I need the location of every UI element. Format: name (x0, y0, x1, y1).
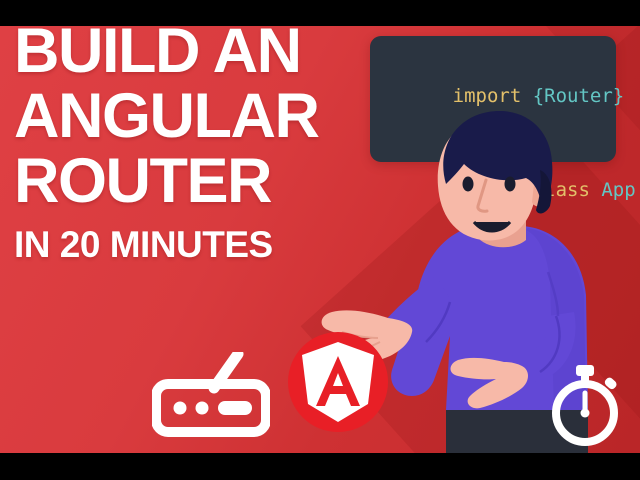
headline-block: BUILD AN ANGULAR ROUTER IN 20 MINUTES (14, 22, 364, 263)
headline-line-1: BUILD AN (14, 22, 364, 82)
thumbnail-canvas: BUILD AN ANGULAR ROUTER IN 20 MINUTES im… (0, 0, 640, 480)
letterbox-bar-top (0, 0, 640, 26)
headline-line-3: ROUTER (14, 152, 364, 212)
stopwatch-icon (543, 363, 627, 447)
letterbox-bar-bottom (0, 453, 640, 480)
router-icon (152, 352, 270, 444)
headline-subtitle: IN 20 MINUTES (14, 226, 364, 263)
headline-line-2: ANGULAR (14, 87, 364, 147)
angular-logo-icon (286, 330, 390, 434)
